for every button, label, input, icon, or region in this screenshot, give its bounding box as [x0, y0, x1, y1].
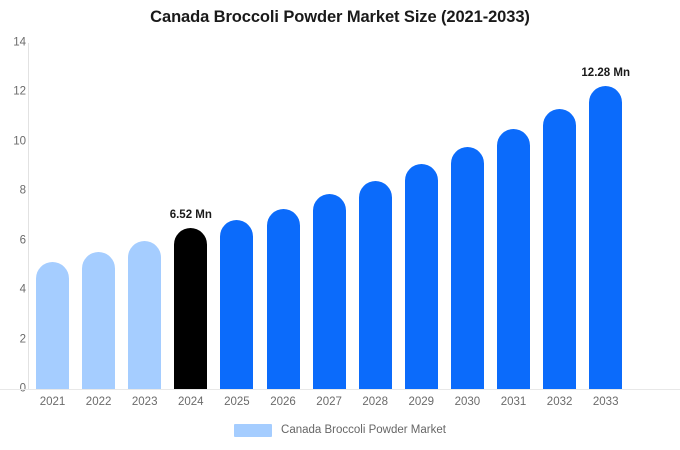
bar-value-label-2024: 6.52 Mn — [170, 210, 212, 222]
bar-2023[interactable] — [128, 241, 161, 389]
x-axis-tick-2027: 2027 — [313, 397, 346, 409]
y-axis-tick-2: 2 — [2, 334, 26, 346]
bar-2030[interactable] — [451, 147, 484, 389]
bar-value-label-2033: 12.28 Mn — [581, 68, 630, 80]
x-axis-tick-2032: 2032 — [543, 397, 576, 409]
bar-2031[interactable] — [497, 129, 530, 389]
y-axis-tick-6: 6 — [2, 235, 26, 247]
x-axis-tick-2028: 2028 — [359, 397, 392, 409]
x-axis-tick-2026: 2026 — [267, 397, 300, 409]
x-axis-tick-2025: 2025 — [220, 397, 253, 409]
bar-2033[interactable] — [589, 86, 622, 389]
chart-legend[interactable]: Canada Broccoli Powder Market — [0, 424, 680, 437]
y-axis-tick-14: 14 — [2, 37, 26, 49]
bar-2022[interactable] — [82, 252, 115, 389]
y-axis-tick-8: 8 — [2, 186, 26, 198]
legend-label: Canada Broccoli Powder Market — [281, 425, 446, 437]
y-axis-tick-12: 12 — [2, 87, 26, 99]
bar-2029[interactable] — [405, 164, 438, 389]
bar-2024[interactable] — [174, 228, 207, 389]
bar-2021[interactable] — [36, 262, 69, 389]
x-axis-tick-2024: 2024 — [174, 397, 207, 409]
bar-2032[interactable] — [543, 109, 576, 389]
bar-2028[interactable] — [359, 181, 392, 389]
x-axis-tick-2033: 2033 — [589, 397, 622, 409]
x-axis-tick-2021: 2021 — [36, 397, 69, 409]
y-axis-tick-10: 10 — [2, 136, 26, 148]
legend-swatch-icon — [234, 424, 272, 437]
plot-area — [29, 43, 680, 389]
bar-2025[interactable] — [220, 220, 253, 389]
x-axis-tick-2030: 2030 — [451, 397, 484, 409]
x-axis-tick-2022: 2022 — [82, 397, 115, 409]
bar-chart: Canada Broccoli Powder Market Size (2021… — [0, 0, 680, 450]
x-axis-tick-2031: 2031 — [497, 397, 530, 409]
y-axis-tick-labels: 02468101214 — [0, 0, 26, 450]
x-axis-tick-2023: 2023 — [128, 397, 161, 409]
y-axis-tick-4: 4 — [2, 284, 26, 296]
chart-title: Canada Broccoli Powder Market Size (2021… — [0, 8, 680, 27]
x-axis-tick-2029: 2029 — [405, 397, 438, 409]
bar-2026[interactable] — [267, 209, 300, 389]
x-axis-line — [0, 389, 680, 390]
bar-2027[interactable] — [313, 194, 346, 389]
